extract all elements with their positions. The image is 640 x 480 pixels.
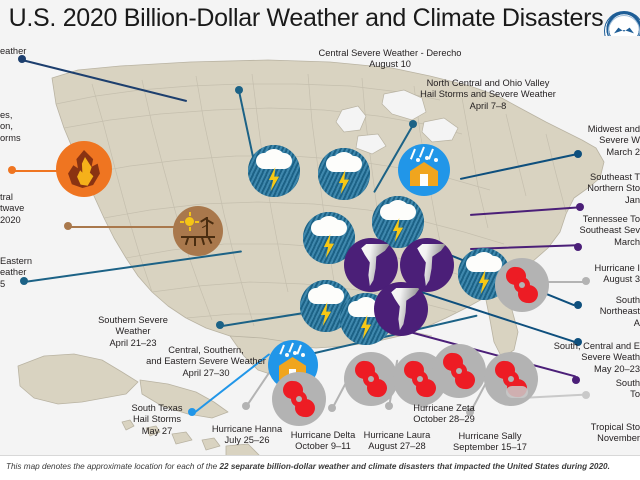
- sun-ray-icon: [189, 212, 191, 216]
- label-line: tral: [0, 192, 24, 203]
- disaster-icon-drought[interactable]: [173, 206, 223, 256]
- hail-streak-icon: [410, 149, 416, 160]
- label-line: 2020: [0, 215, 24, 226]
- footnote-text: This map denotes the approximate locatio…: [6, 462, 610, 471]
- hurricane-eye-icon: [368, 376, 374, 382]
- label-line: orms: [0, 133, 21, 144]
- label-line: es,: [0, 110, 21, 121]
- label-line: March 2: [470, 147, 640, 158]
- label-south-northeast-severe: South Northeast A: [470, 295, 640, 329]
- label-line: March: [470, 237, 640, 248]
- ground-crack-icon: [208, 237, 213, 244]
- sun-ray-icon: [189, 227, 191, 231]
- footnote-lead: This map denotes the approximate locatio…: [6, 462, 219, 471]
- label-line: Hurricane Sally: [440, 431, 540, 442]
- hurricane-eye-icon: [296, 396, 302, 402]
- map-poster: U.S. 2020 Billion-Dollar Weather and Cli…: [0, 0, 640, 480]
- label-line: Central, Southern,: [120, 345, 292, 356]
- disaster-icon-severe-storm[interactable]: [318, 148, 370, 200]
- tree-branch-icon: [207, 219, 214, 224]
- label-line: Eastern: [0, 256, 32, 267]
- label-line: Hail Storms and Severe Weather: [398, 89, 578, 100]
- hailstone-icon: [425, 156, 429, 160]
- footnote-bold: 22 separate billion-dollar weather and c…: [219, 462, 609, 471]
- label-line: August 3: [470, 274, 640, 285]
- label-south-texas-hail: South Texas Hail Storms May 27: [126, 403, 188, 437]
- label-south-central-eastern-severe: South, Central and E Severe Weath May 20…: [470, 341, 640, 375]
- sun-icon: [185, 217, 194, 226]
- label-hurricane-sally: Hurricane Sally September 15–17: [440, 431, 540, 454]
- label-line: To: [470, 389, 640, 400]
- label-line: Midwest and: [470, 124, 640, 135]
- ground-crack-icon: [194, 237, 196, 246]
- label-western-central-heatwave: tral twave 2020: [0, 192, 24, 226]
- leader-dot-wildfire: [8, 166, 16, 174]
- label-midwest-severe: Midwest and Severe W March 2: [470, 124, 640, 158]
- house-door-icon: [420, 174, 428, 186]
- label-line: and Eastern Severe Weather: [120, 356, 292, 367]
- label-line: Southeast T: [470, 172, 640, 183]
- label-southeast-northern-storms: Southeast T Northern Sto Jan: [470, 172, 640, 206]
- page-title: U.S. 2020 Billion-Dollar Weather and Cli…: [0, 4, 612, 33]
- cloud-icon: [388, 200, 408, 215]
- leader-dot-ohio-hail: [409, 120, 417, 128]
- tornado-funnel-icon: [410, 244, 446, 286]
- label-line: April 7–8: [398, 101, 578, 112]
- hurricane-eye-icon: [508, 376, 514, 382]
- disaster-icon-tornado[interactable]: [374, 282, 428, 336]
- hurricane-eye-icon: [519, 282, 525, 288]
- label-line: Southeast Sev: [470, 225, 640, 236]
- label-line: Weather: [52, 326, 214, 337]
- ground-crack-icon: [185, 237, 189, 245]
- label-line: twave: [0, 203, 24, 214]
- leader-dot-hurricane-laura: [385, 402, 393, 410]
- label-line: May 27: [126, 426, 188, 437]
- label-line: Central Severe Weather - Derecho: [290, 48, 490, 59]
- label-line: April 27–30: [120, 368, 292, 379]
- label-line: South: [470, 295, 640, 306]
- label-line: Northern Sto: [470, 183, 640, 194]
- hailstone-icon: [434, 158, 438, 162]
- disaster-icon-wildfire[interactable]: [56, 141, 112, 197]
- label-southeast-tornado-outbreak: South To: [470, 378, 640, 401]
- leader-dot-south-texas-hail: [188, 408, 196, 416]
- label-line: May 20–23: [470, 364, 640, 375]
- leader-dot-hurricane-delta: [328, 404, 336, 412]
- label-line: South, Central and E: [470, 341, 640, 352]
- label-line: Severe Weath: [470, 352, 640, 363]
- hurricane-eye-icon: [456, 368, 462, 374]
- label-line: North Central and Ohio Valley: [398, 78, 578, 89]
- label-line: A: [470, 318, 640, 329]
- disaster-icon-hurricane[interactable]: [344, 352, 398, 406]
- footnote-bar: This map denotes the approximate locatio…: [0, 455, 640, 480]
- label-hurricane-zeta: Hurricane Zeta October 28–29: [398, 403, 490, 426]
- label-south-eastern-severe: Eastern eather 5: [0, 256, 32, 290]
- hail-streak-icon: [419, 147, 425, 158]
- label-line: 5: [0, 279, 32, 290]
- label-hurricane-laura: Hurricane Laura August 27–28: [352, 430, 442, 453]
- sun-ray-icon: [180, 221, 184, 223]
- cloud-icon: [264, 149, 284, 164]
- label-line: Southern Severe: [52, 315, 214, 326]
- label-line: September 15–17: [440, 442, 540, 453]
- leader-dot-southern-severe: [216, 321, 224, 329]
- cloud-icon: [334, 152, 354, 167]
- label-line: South Texas: [126, 403, 188, 414]
- disaster-icon-severe-storm[interactable]: [248, 145, 300, 197]
- hailstone-icon: [301, 353, 305, 357]
- label-line: Hurricane Zeta: [398, 403, 490, 414]
- leader-dot-drought: [64, 222, 72, 230]
- tornado-funnel-icon: [384, 288, 420, 330]
- label-north-central-ohio: North Central and Ohio Valley Hail Storm…: [398, 78, 578, 112]
- label-line: August 27–28: [352, 441, 442, 452]
- cloud-icon: [316, 284, 336, 299]
- label-line: August 10: [290, 59, 490, 70]
- leader-dot-derecho: [235, 86, 243, 94]
- label-line: on,: [0, 121, 21, 132]
- hailstone-icon: [293, 351, 297, 355]
- label-line: October 28–29: [398, 414, 490, 425]
- sun-ray-icon: [195, 221, 199, 223]
- hurricane-eye-icon: [417, 376, 423, 382]
- label-line: Severe W: [470, 135, 640, 146]
- leader-line-drought: [70, 226, 190, 228]
- cloud-icon: [319, 216, 339, 231]
- hailstone-icon: [416, 158, 420, 162]
- disaster-icon-hurricane[interactable]: [272, 372, 326, 426]
- label-line: Hurricane Laura: [352, 430, 442, 441]
- label-central-derecho: Central Severe Weather - Derecho August …: [290, 48, 490, 71]
- label-line: Hurricane I: [470, 263, 640, 274]
- label-western-wildfires: eather: [0, 46, 26, 57]
- disaster-icon-hail[interactable]: [398, 144, 450, 196]
- leader-dot-hurricane-hanna: [242, 402, 250, 410]
- label-line: Hail Storms: [126, 414, 188, 425]
- label-line: South: [470, 378, 640, 389]
- label-tennessee-tornadoes: Tennessee To Southeast Sev March: [470, 214, 640, 248]
- label-central-southern-eastern: Central, Southern, and Eastern Severe We…: [120, 345, 292, 379]
- label-hurricane-isaias: Hurricane I August 3: [470, 263, 640, 286]
- label-western-wildfires-drought: es, on, orms: [0, 110, 21, 144]
- label-line: eather: [0, 46, 26, 57]
- label-line: Northeast: [470, 306, 640, 317]
- label-line: eather: [0, 267, 32, 278]
- ground-crack-icon: [201, 237, 205, 245]
- cloud-icon: [356, 297, 376, 312]
- tornado-funnel-icon: [354, 244, 390, 286]
- label-line: Jan: [470, 195, 640, 206]
- label-line: Tennessee To: [470, 214, 640, 225]
